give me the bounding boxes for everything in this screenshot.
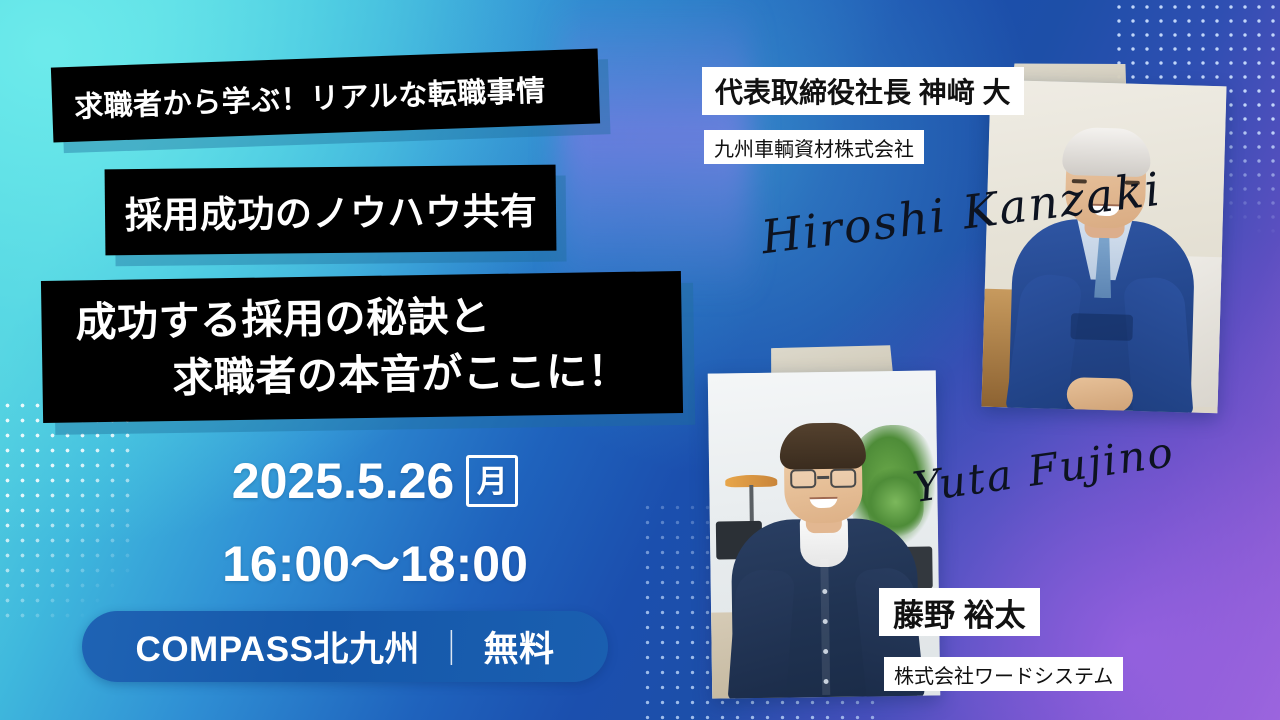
photo-hands bbox=[1066, 377, 1133, 413]
main-headline-banner: 成功する採用の秘訣と 求職者の本音がここに！ bbox=[41, 271, 683, 423]
name-plate-kanzaki: 代表取締役社長 神﨑 大 bbox=[702, 67, 1024, 115]
speaker-photo-kanzaki bbox=[981, 80, 1226, 413]
banner-canvas: 求職者から学ぶ！リアルな転職事情 採用成功のノウハウ共有 成功する採用の秘訣と … bbox=[0, 0, 1280, 720]
photo-glasses-left bbox=[790, 469, 816, 488]
photo-person-kanzaki bbox=[1008, 217, 1195, 413]
photo-glasses-right bbox=[830, 469, 856, 488]
venue-price-pill[interactable]: COMPASS北九州 ｜ 無料 bbox=[82, 611, 608, 682]
tagline-banner-2: 採用成功のノウハウ共有 bbox=[105, 165, 557, 256]
tagline-2-text: 採用成功のノウハウ共有 bbox=[125, 181, 538, 239]
name-plate-fujino: 藤野 裕太 bbox=[879, 588, 1040, 636]
photo-pocket bbox=[1070, 313, 1133, 341]
company-plate-fujino: 株式会社ワードシステム bbox=[884, 657, 1123, 691]
event-date-row: 2025.5.26 月 bbox=[165, 452, 585, 510]
company-plate-kanzaki: 九州車輌資材株式会社 bbox=[704, 130, 924, 164]
headline-line-2: 求職者の本音がここに！ bbox=[76, 343, 629, 408]
pill-separator: ｜ bbox=[434, 621, 470, 672]
photo-button bbox=[823, 619, 828, 624]
photo-arm-right bbox=[1123, 275, 1194, 413]
photo-button bbox=[824, 679, 829, 684]
event-datetime: 2025.5.26 月 16:00〜18:00 bbox=[165, 452, 585, 596]
photo-button bbox=[823, 649, 828, 654]
event-date: 2025.5.26 bbox=[232, 452, 454, 510]
photo-smile bbox=[809, 497, 837, 508]
headline-line-1: 成功する採用の秘訣と bbox=[75, 288, 491, 351]
event-time: 16:00〜18:00 bbox=[165, 524, 585, 596]
photo-hair bbox=[779, 422, 866, 469]
price-label: 無料 bbox=[483, 621, 554, 672]
venue-label: COMPASS北九州 bbox=[136, 621, 420, 672]
photo-placket bbox=[820, 559, 830, 695]
photo-arm-left bbox=[728, 568, 796, 699]
dot-pattern-left bbox=[0, 398, 132, 628]
tagline-1-text: 求職者から学ぶ！リアルな転職事情 bbox=[73, 67, 546, 125]
photo-button bbox=[822, 589, 827, 594]
photo-glasses-bridge bbox=[817, 476, 829, 479]
weekday-badge: 月 bbox=[466, 455, 518, 507]
speaker-photo-fujino bbox=[708, 370, 941, 698]
